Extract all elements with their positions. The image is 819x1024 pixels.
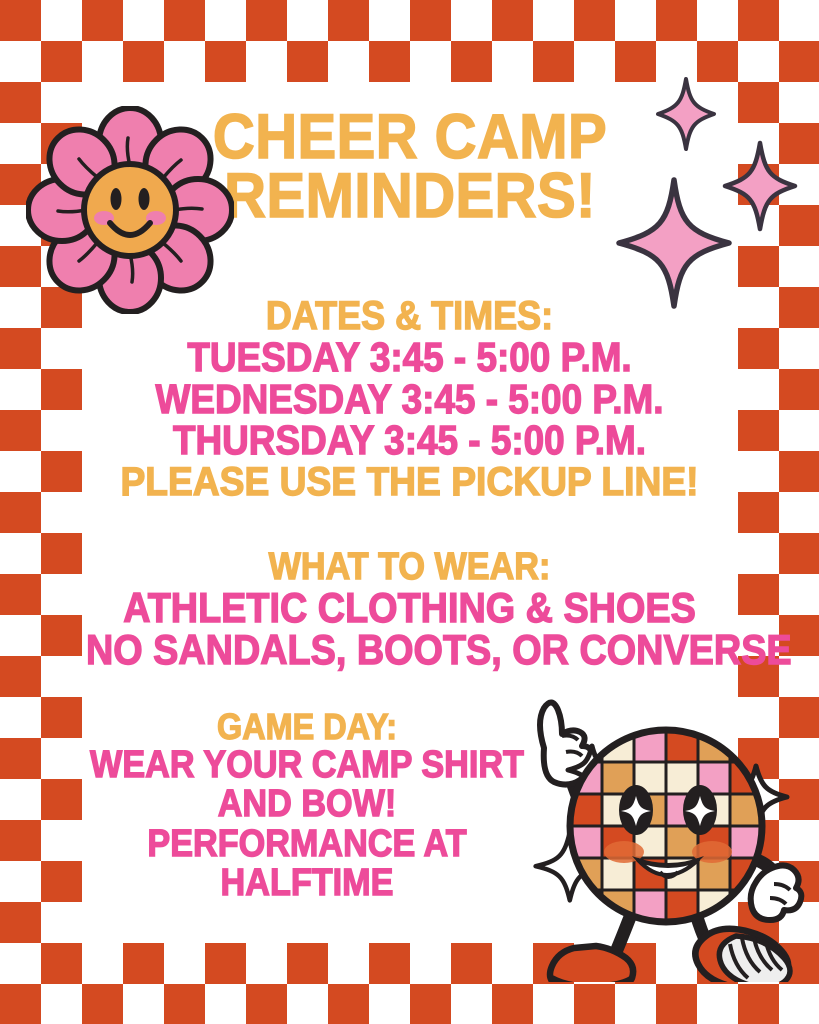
dates-line-thursday: THURSDAY 3:45 - 5:00 P.M. [86,420,733,462]
dates-pickup-note: PLEASE USE THE PICKUP LINE! [75,462,744,504]
gameday-line-performance: PERFORMANCE AT [69,825,546,865]
shoe-icon [695,929,790,982]
page-title-line-1: CHEER CAMP [208,108,613,167]
gameday-heading: GAME DAY: [69,708,546,746]
poster: CHEER CAMP REMINDERS! DATES & TIMES: TUE… [0,0,819,1024]
sparkle-icon [722,140,798,232]
shoe-icon [550,946,633,982]
disco-ball-character-icon [520,686,812,982]
flower-smiley-icon [26,106,234,314]
gameday-line-halftime: HALFTIME [69,864,546,904]
page-title-line-2: REMINDERS! [208,167,613,226]
dates-line-wednesday: WEDNESDAY 3:45 - 5:00 P.M. [86,379,733,421]
gameday-line-shirt: WEAR YOUR CAMP SHIRT [69,746,546,786]
sparkle-icon [655,76,717,152]
poster-content: CHEER CAMP REMINDERS! DATES & TIMES: TUE… [0,0,819,1024]
section-game-day: GAME DAY: WEAR YOUR CAMP SHIRT AND BOW! … [42,708,572,904]
gameday-line-bow: AND BOW! [69,785,546,825]
wear-line-clothing: ATHLETIC CLOTHING & SHOES [86,587,733,629]
section-dates-and-times: DATES & TIMES: TUESDAY 3:45 - 5:00 P.M. … [50,296,769,504]
sparkle-icon [615,176,733,310]
page-title: CHEER CAMP REMINDERS! [208,108,613,225]
wear-line-restrictions: NO SANDALS, BOOTS, OR CONVERSE [86,629,733,671]
dates-line-tuesday: TUESDAY 3:45 - 5:00 P.M. [86,337,733,379]
glove-icon [751,865,802,920]
section-what-to-wear: WHAT TO WEAR: ATHLETIC CLOTHING & SHOES … [50,548,769,671]
wear-heading: WHAT TO WEAR: [86,548,733,587]
